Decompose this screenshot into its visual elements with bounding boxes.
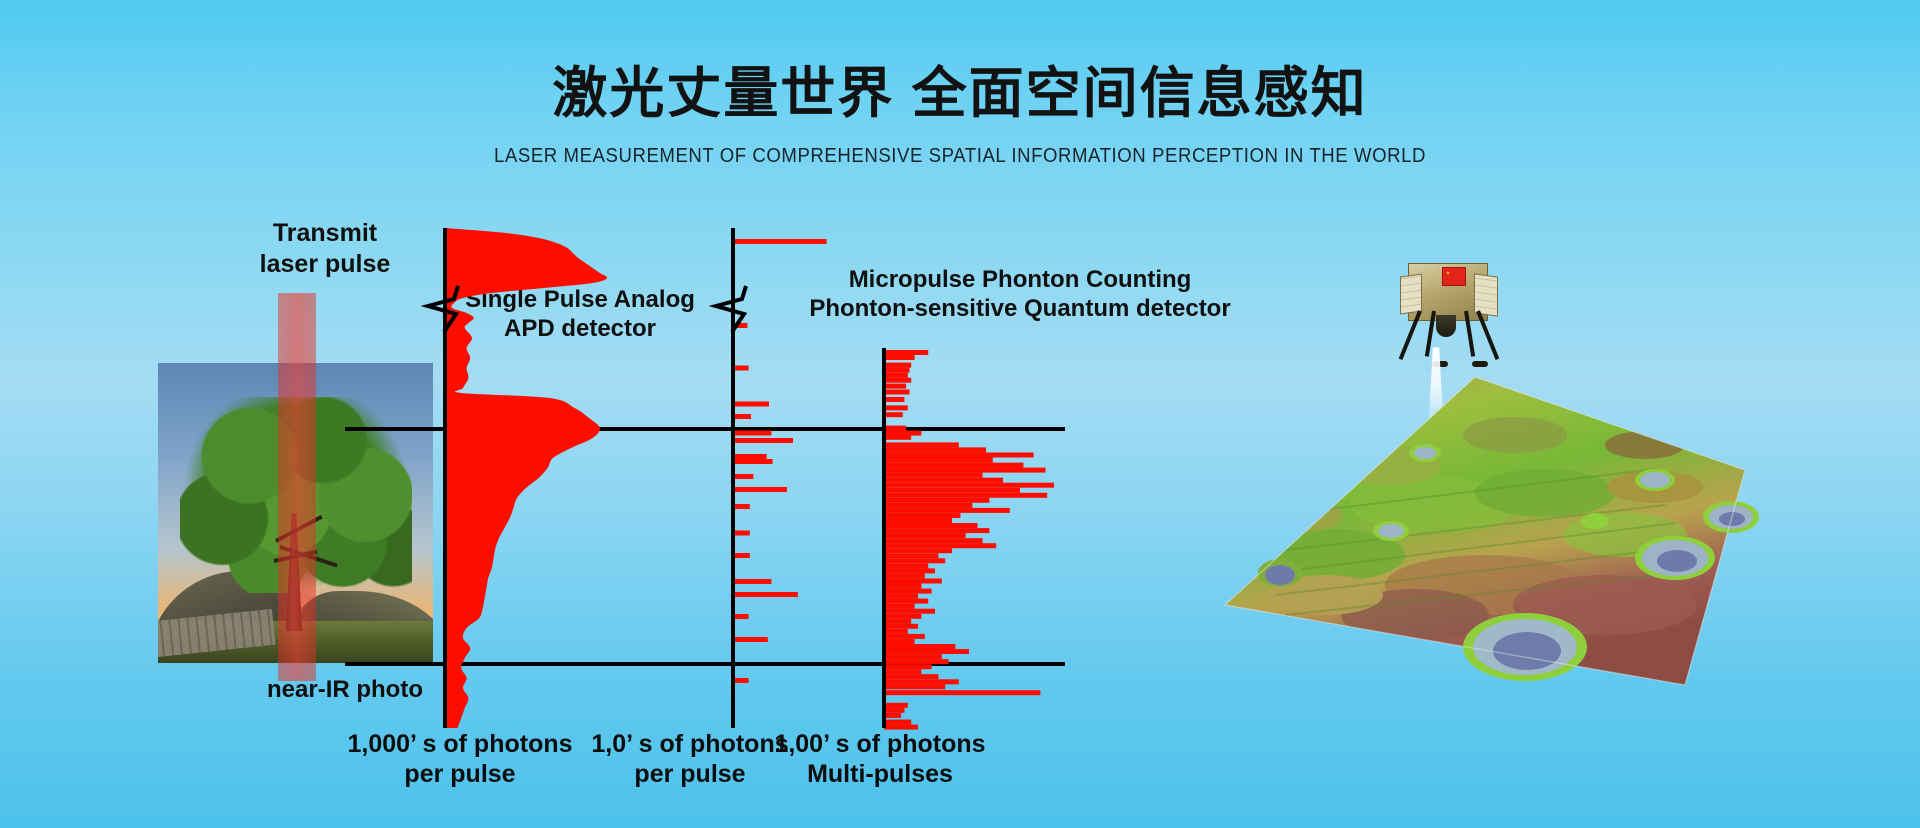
sparse-bar	[733, 414, 751, 419]
dense-bar	[884, 629, 908, 634]
dense-bar	[884, 609, 935, 614]
dense-bar	[884, 634, 925, 639]
dense-bar	[884, 690, 1040, 695]
dense-bar	[884, 350, 928, 355]
dense-bar	[884, 503, 972, 508]
dense-bar	[884, 368, 910, 373]
sparse-bar	[733, 531, 750, 536]
dense-bar	[884, 513, 961, 518]
sparse-bar	[733, 487, 787, 492]
dense-bar	[884, 355, 915, 360]
terrain-elevation-mesh	[1185, 255, 1805, 755]
page-title: 激光丈量世界 全面空间信息感知	[0, 48, 1920, 128]
dense-bar	[884, 533, 966, 538]
dense-bar	[884, 659, 949, 664]
dense-bars-group	[884, 350, 1054, 730]
dense-bar	[884, 624, 918, 629]
dense-bar	[884, 518, 952, 523]
dense-bar	[884, 458, 993, 463]
dense-bar	[884, 468, 1046, 473]
dense-bar	[884, 488, 1020, 493]
dense-bar	[884, 363, 911, 368]
dense-bar	[884, 384, 906, 389]
dense-bar	[884, 654, 942, 659]
dense-bar	[884, 674, 938, 679]
crater	[1581, 513, 1609, 529]
dense-bar	[884, 579, 942, 584]
dense-bar	[884, 498, 989, 503]
crater	[1258, 559, 1302, 587]
lidar-terrain-scene	[1185, 255, 1805, 755]
dense-bar	[884, 708, 904, 713]
sparse-bar	[733, 366, 749, 371]
dense-bar	[884, 412, 903, 417]
dense-bar	[884, 397, 904, 402]
dense-bar	[884, 483, 1054, 488]
dense-bar	[884, 563, 928, 568]
dense-bar	[884, 720, 911, 725]
dense-bar	[884, 463, 1023, 468]
sparse-bar	[733, 474, 753, 479]
crater	[1703, 501, 1759, 533]
chart-micropulse-photon-counting	[884, 350, 1054, 728]
crater	[1373, 521, 1409, 541]
transmit-label-line1: Transmit	[225, 218, 425, 249]
sparse-bar	[733, 438, 793, 443]
page-subtitle: LASER MEASUREMENT OF COMPREHENSIVE SPATI…	[67, 145, 1853, 168]
dense-bar	[884, 703, 908, 708]
laser-beam-overlay	[278, 293, 316, 681]
dense-bar	[884, 614, 921, 619]
sparse-bar	[733, 504, 750, 509]
dense-bar	[884, 453, 1034, 458]
dense-bar	[884, 373, 908, 378]
dense-bar	[884, 442, 959, 447]
sparse-bar	[733, 402, 769, 407]
dense-chart-axis	[882, 348, 886, 728]
dense-bar	[884, 725, 918, 730]
dense-bar	[884, 473, 983, 478]
banner-stage: 激光丈量世界 全面空间信息感知 LASER MEASUREMENT OF COM…	[0, 0, 1920, 828]
crater	[1409, 444, 1441, 462]
dense-bar	[884, 619, 911, 624]
transmit-laser-pulse-label: Transmit laser pulse	[225, 218, 425, 279]
dense-bar	[884, 644, 955, 649]
dense-bar	[884, 679, 959, 684]
dense-bar	[884, 426, 906, 431]
dense-bar	[884, 378, 911, 383]
dense-bar	[884, 538, 983, 543]
dense-bar	[884, 599, 928, 604]
dense-bar	[884, 669, 921, 674]
crater	[1463, 613, 1587, 681]
dense-bar	[884, 405, 908, 410]
dense-bar	[884, 508, 1010, 513]
dense-bar	[884, 604, 915, 609]
near-ir-photo-label: near-IR photo	[215, 675, 475, 704]
sparse-bar	[733, 553, 750, 558]
dense-bar	[884, 390, 910, 395]
crater	[1635, 536, 1715, 580]
dense-bar	[884, 594, 918, 599]
sparse-bar	[733, 454, 767, 459]
dense-bar	[884, 493, 1047, 498]
dense-bar	[884, 548, 952, 553]
dense-bar	[884, 684, 945, 689]
quantum-detector-label: Micropulse Phonton Counting Phonton-sens…	[790, 265, 1250, 324]
dense-bar	[884, 649, 969, 654]
analog-axis-break-icon	[424, 286, 474, 332]
dense-bar	[884, 523, 978, 528]
dense-bar	[884, 478, 1003, 483]
dense-bar	[884, 528, 989, 533]
sparse-bar	[733, 579, 771, 584]
quantum-label-line1: Micropulse Phonton Counting	[790, 265, 1250, 294]
sparse-bar	[733, 637, 768, 642]
dense-bar	[884, 713, 901, 718]
sparse-bar	[733, 459, 773, 464]
dense-bar	[884, 664, 932, 669]
sparse-axis-break-icon	[712, 286, 762, 332]
sparse-bar	[733, 614, 749, 619]
dense-bar	[884, 568, 935, 573]
sparse-bar	[733, 431, 771, 436]
dense-bar	[884, 589, 932, 594]
sparse-bar	[733, 678, 749, 683]
dense-bar	[884, 573, 925, 578]
dense-bars-svg	[884, 350, 1054, 728]
caption-dense-line2: Multi-pulses	[720, 760, 1040, 790]
dense-bar	[884, 543, 996, 548]
transmit-label-line2: laser pulse	[225, 249, 425, 280]
dense-bar	[884, 447, 986, 452]
dense-bar	[884, 639, 915, 644]
crater	[1635, 469, 1675, 491]
dense-bar	[884, 584, 921, 589]
caption-dense-line1: 1,00’ s of photons	[720, 730, 1040, 760]
caption-dense: 1,00’ s of photons Multi-pulses	[720, 730, 1040, 789]
dense-bar	[884, 553, 938, 558]
sparse-bar	[733, 592, 798, 597]
quantum-label-line2: Phonton-sensitive Quantum detector	[790, 294, 1250, 323]
dense-bar	[884, 558, 945, 563]
sparse-bar	[733, 239, 827, 244]
dense-bar	[884, 435, 911, 440]
